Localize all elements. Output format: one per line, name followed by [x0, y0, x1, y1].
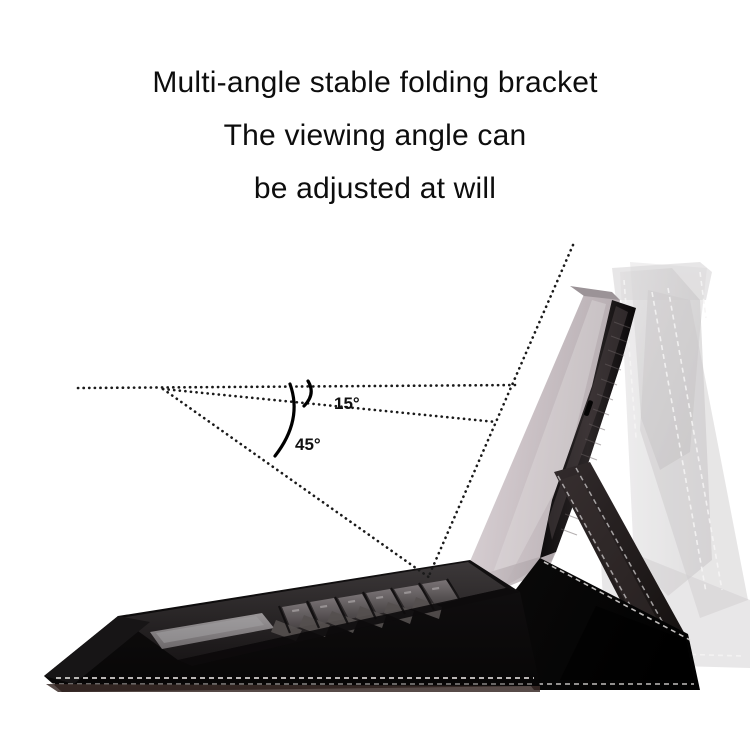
ray-horizontal: [78, 385, 516, 388]
angle-label-15: 15°: [334, 394, 360, 413]
arc-15-degrees: [304, 381, 311, 406]
ray-tablet-edge: [428, 245, 573, 578]
construction-lines: [78, 245, 573, 578]
product-image-canvas: Multi-angle stable folding bracket The v…: [0, 0, 750, 750]
angle-label-45: 45°: [295, 435, 321, 454]
ray-15-degrees: [163, 389, 496, 422]
angle-annotation-overlay: 15° 45°: [0, 0, 750, 750]
ray-45-degrees: [163, 389, 430, 578]
arc-45-degrees: [275, 384, 294, 456]
